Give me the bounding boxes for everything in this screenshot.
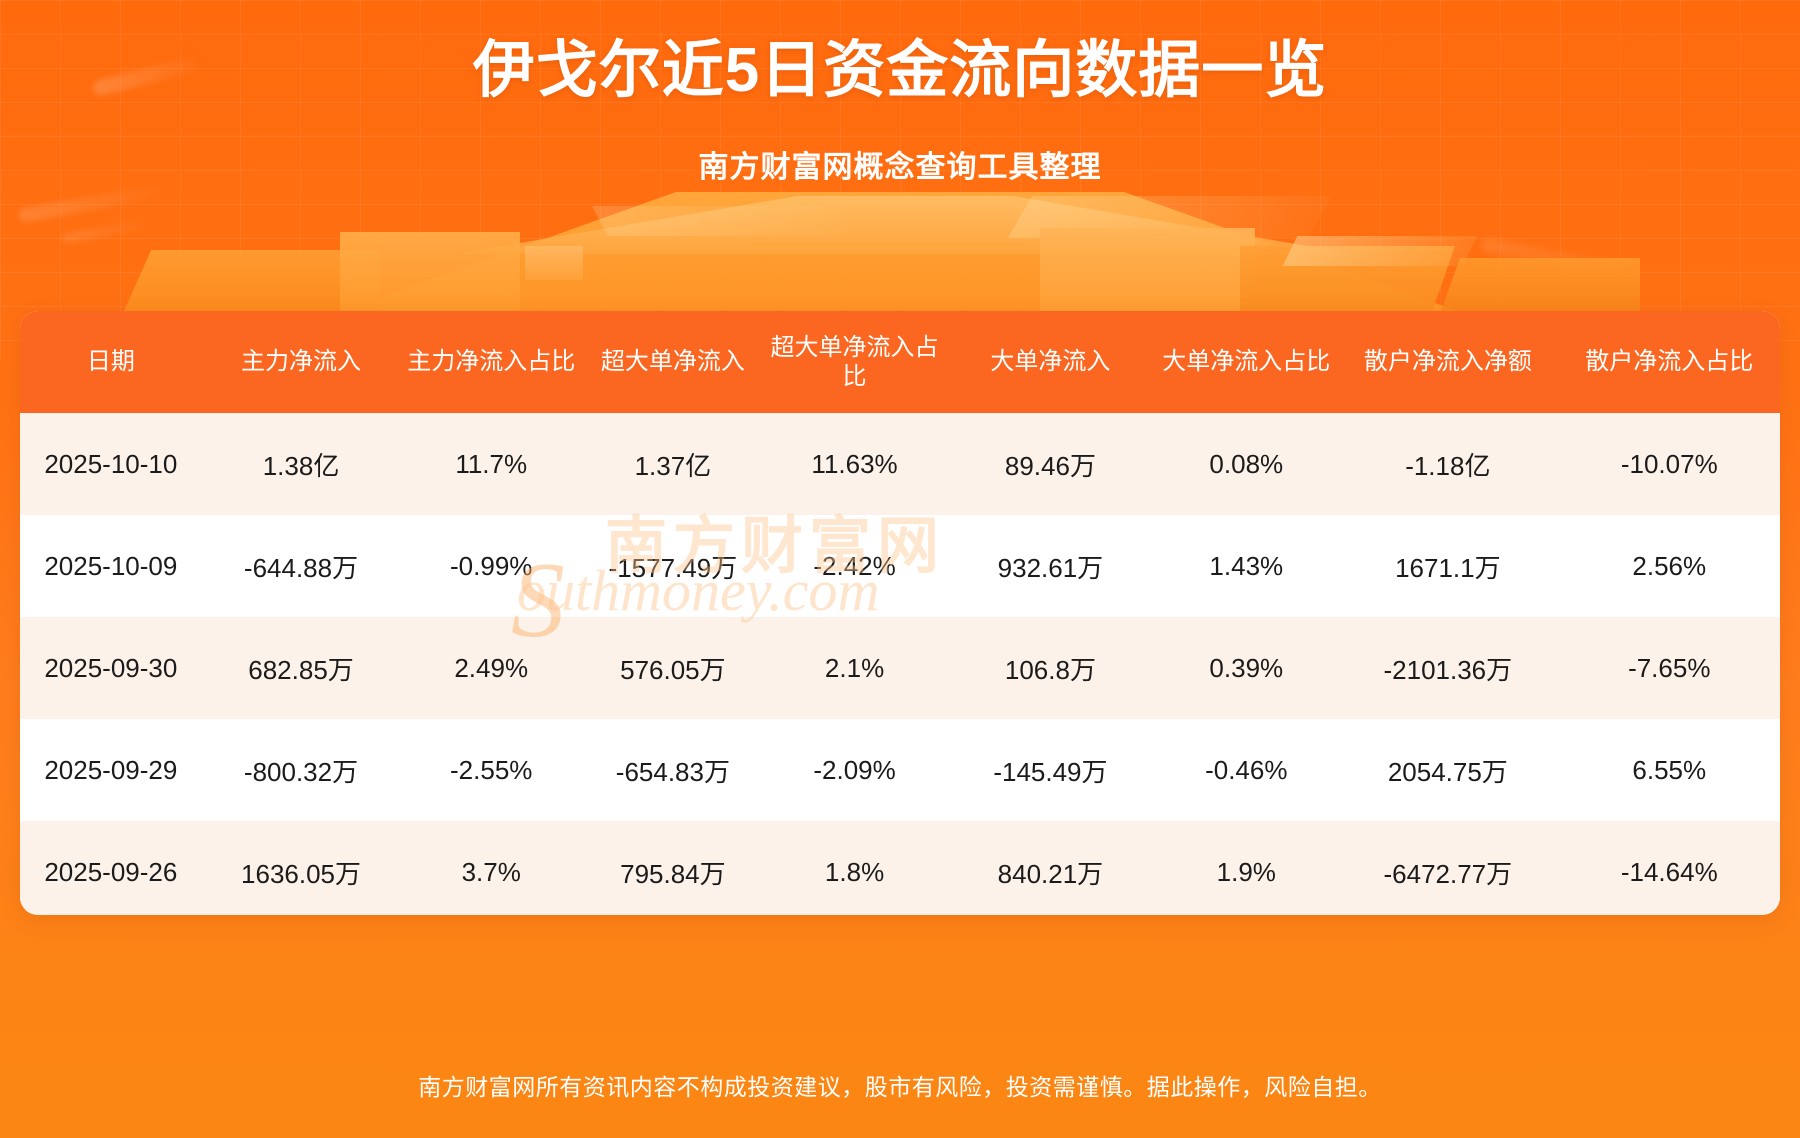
- cell-main-pct: 3.7%: [400, 821, 582, 915]
- table-row: 2025-09-26 1636.05万 3.7% 795.84万 1.8% 84…: [20, 821, 1780, 915]
- podium-block-far-right: [1283, 236, 1478, 266]
- fund-flow-table-card: 日期 主力净流入 主力净流入占比 超大单净流入 超大单净流入占比 大单净流入 大…: [20, 311, 1780, 915]
- podium-block-right: [1040, 228, 1255, 320]
- column-header-main-net: 主力净流入: [202, 311, 401, 413]
- cell-retail-net: 1671.1万: [1337, 515, 1558, 617]
- cell-large-net: -145.49万: [945, 719, 1155, 821]
- cell-date: 2025-09-30: [20, 617, 202, 719]
- cell-main-net: 1.38亿: [202, 413, 401, 515]
- podium-slab: [340, 192, 1460, 312]
- column-header-large-net: 大单净流入: [945, 311, 1155, 413]
- column-header-large-pct: 大单净流入占比: [1155, 311, 1337, 413]
- podium-block-far-right-2: [1440, 258, 1640, 314]
- cell-xlarge-pct: 1.8%: [764, 821, 946, 915]
- cell-retail-pct: 2.56%: [1559, 515, 1780, 617]
- page-title: 伊戈尔近5日资金流向数据一览: [0, 34, 1800, 108]
- cell-retail-pct: -14.64%: [1559, 821, 1780, 915]
- podium-highlight: [1008, 196, 1332, 238]
- cell-main-pct: -0.99%: [400, 515, 582, 617]
- cell-xlarge-net: -654.83万: [582, 719, 764, 821]
- cell-retail-net: -2101.36万: [1337, 617, 1558, 719]
- table-row: 2025-10-09 -644.88万 -0.99% -1577.49万 -2.…: [20, 515, 1780, 617]
- table-row: 2025-10-10 1.38亿 11.7% 1.37亿 11.63% 89.4…: [20, 413, 1780, 515]
- cell-xlarge-pct: -2.42%: [764, 515, 946, 617]
- cell-main-net: -800.32万: [202, 719, 401, 821]
- column-header-retail-pct: 散户净流入占比: [1559, 311, 1780, 413]
- cell-large-net: 932.61万: [945, 515, 1155, 617]
- cell-retail-net: 2054.75万: [1337, 719, 1558, 821]
- cell-main-pct: -2.55%: [400, 719, 582, 821]
- podium-slab-top: [455, 196, 1355, 254]
- table-row: 2025-09-30 682.85万 2.49% 576.05万 2.1% 10…: [20, 617, 1780, 719]
- cell-date: 2025-09-29: [20, 719, 202, 821]
- footer-disclaimer: 南方财富网所有资讯内容不构成投资建议，股市有风险，投资需谨慎。据此操作，风险自担…: [0, 1068, 1800, 1102]
- cell-large-pct: 0.39%: [1155, 617, 1337, 719]
- page-root: 伊戈尔近5日资金流向数据一览 南方财富网概念查询工具整理 日期 主力净流入 主力…: [0, 0, 1800, 1138]
- decorative-streak: [62, 218, 152, 243]
- cell-xlarge-pct: 11.63%: [764, 413, 946, 515]
- cell-main-net: -644.88万: [202, 515, 401, 617]
- table-row: 2025-09-29 -800.32万 -2.55% -654.83万 -2.0…: [20, 719, 1780, 821]
- decorative-streak: [18, 183, 168, 223]
- podium-highlight: [592, 206, 848, 236]
- table-body: 2025-10-10 1.38亿 11.7% 1.37亿 11.63% 89.4…: [20, 413, 1780, 915]
- cell-main-pct: 11.7%: [400, 413, 582, 515]
- cell-large-pct: 0.08%: [1155, 413, 1337, 515]
- cell-retail-pct: -7.65%: [1559, 617, 1780, 719]
- column-header-xlarge-net: 超大单净流入: [582, 311, 764, 413]
- page-subtitle: 南方财富网概念查询工具整理: [0, 142, 1800, 186]
- cell-xlarge-net: 795.84万: [582, 821, 764, 915]
- decorative-streak: [1200, 256, 1321, 285]
- column-header-date: 日期: [20, 311, 202, 413]
- cell-retail-pct: 6.55%: [1559, 719, 1780, 821]
- cell-large-pct: -0.46%: [1155, 719, 1337, 821]
- cell-date: 2025-10-10: [20, 413, 202, 515]
- cell-retail-pct: -10.07%: [1559, 413, 1780, 515]
- column-header-xlarge-pct: 超大单净流入占比: [764, 311, 946, 413]
- cell-xlarge-net: 576.05万: [582, 617, 764, 719]
- cell-main-net: 682.85万: [202, 617, 401, 719]
- podium-block-right-2: [1240, 246, 1455, 320]
- cell-xlarge-pct: -2.09%: [764, 719, 946, 821]
- cell-date: 2025-09-26: [20, 821, 202, 915]
- cell-xlarge-net: -1577.49万: [582, 515, 764, 617]
- table-header-row: 日期 主力净流入 主力净流入占比 超大单净流入 超大单净流入占比 大单净流入 大…: [20, 311, 1780, 413]
- column-header-main-pct: 主力净流入占比: [400, 311, 582, 413]
- cell-main-pct: 2.49%: [400, 617, 582, 719]
- podium-block-center: [525, 246, 583, 280]
- cell-date: 2025-10-09: [20, 515, 202, 617]
- fund-flow-table: 日期 主力净流入 主力净流入占比 超大单净流入 超大单净流入占比 大单净流入 大…: [20, 311, 1780, 915]
- cell-large-net: 840.21万: [945, 821, 1155, 915]
- cell-retail-net: -1.18亿: [1337, 413, 1558, 515]
- table-header: 日期 主力净流入 主力净流入占比 超大单净流入 超大单净流入占比 大单净流入 大…: [20, 311, 1780, 413]
- cell-xlarge-pct: 2.1%: [764, 617, 946, 719]
- decorative-streak: [1480, 237, 1630, 277]
- podium-block-left-2: [340, 232, 520, 320]
- cell-large-net: 89.46万: [945, 413, 1155, 515]
- cell-large-pct: 1.9%: [1155, 821, 1337, 915]
- cell-main-net: 1636.05万: [202, 821, 401, 915]
- cell-retail-net: -6472.77万: [1337, 821, 1558, 915]
- podium-block-left: [120, 250, 380, 320]
- cell-large-pct: 1.43%: [1155, 515, 1337, 617]
- cell-xlarge-net: 1.37亿: [582, 413, 764, 515]
- column-header-retail-net: 散户净流入净额: [1337, 311, 1558, 413]
- cell-large-net: 106.8万: [945, 617, 1155, 719]
